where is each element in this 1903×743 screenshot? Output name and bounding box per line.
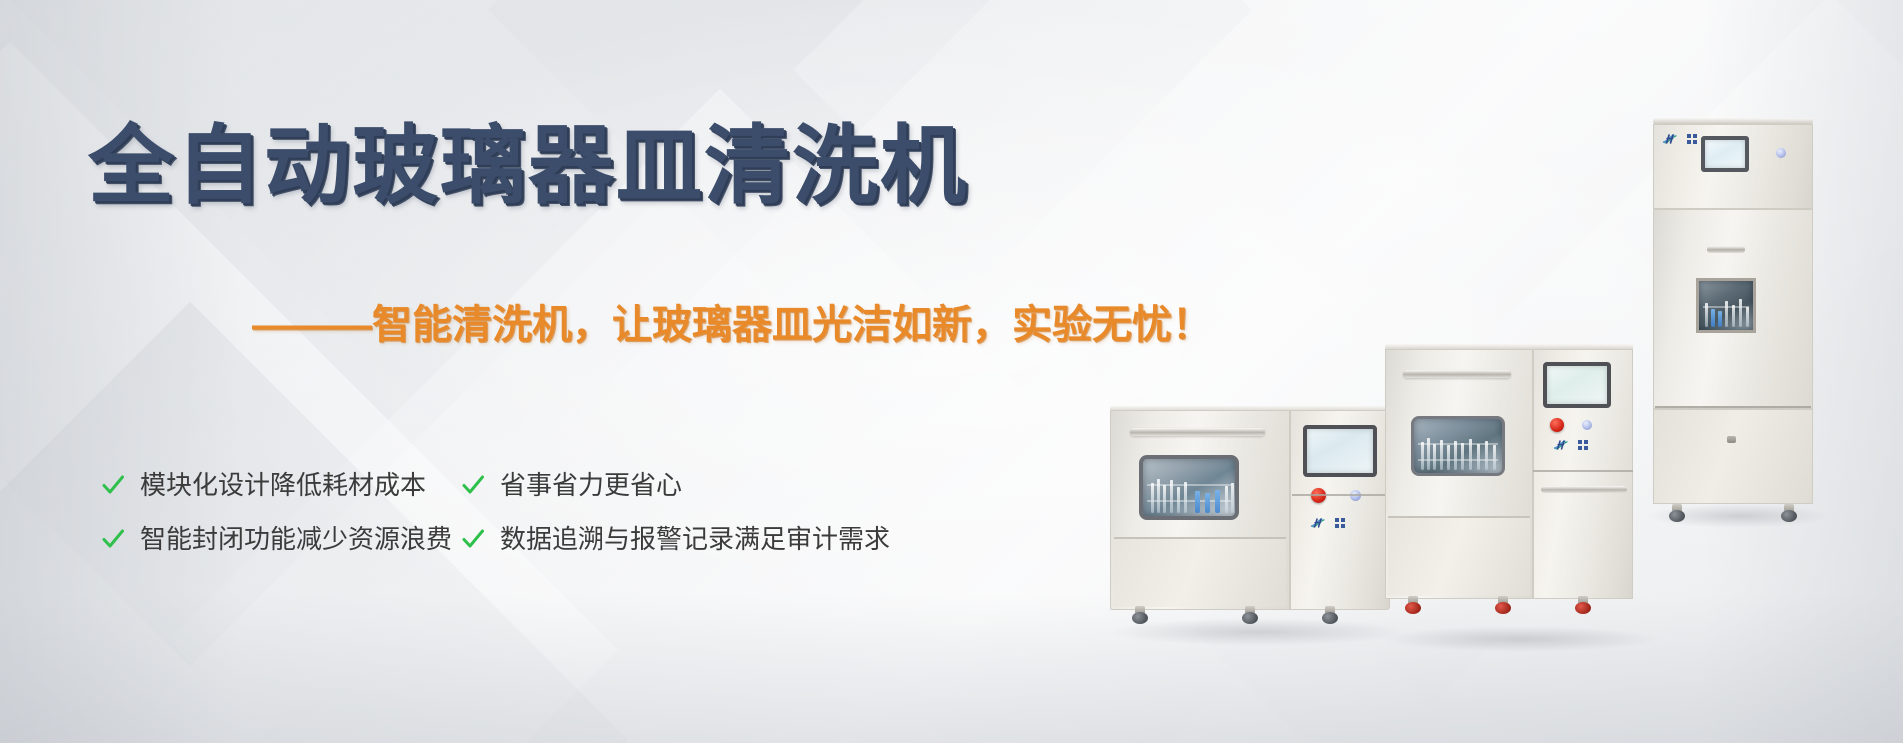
lower-door-handle	[1541, 486, 1627, 493]
caster-wheel	[1322, 606, 1338, 624]
brand-wordmark-blocks	[1335, 518, 1345, 528]
brand-mark-icon	[1553, 440, 1570, 451]
banner-text-content: 全自动玻璃器皿清洗机 ———智能清洗机，让玻璃器皿光洁如新，实验无忧！ 模块化设…	[0, 0, 1180, 743]
touchscreen-display	[1543, 362, 1611, 408]
page-subtitle: ———智能清洗机，让玻璃器皿光洁如新，实验无忧！	[252, 292, 1212, 350]
feature-item: 数据追溯与报警记录满足审计需求	[460, 526, 940, 552]
caster-wheel	[1669, 504, 1684, 521]
feature-list: 模块化设计降低耗材成本 省事省力更省心	[100, 472, 1000, 580]
door-handle	[1707, 246, 1745, 253]
lower-door-panel	[1388, 516, 1530, 596]
lower-door-panel	[1653, 409, 1813, 504]
feature-label: 模块化设计降低耗材成本	[140, 472, 426, 498]
door-latch	[1727, 436, 1736, 443]
check-icon	[460, 526, 486, 552]
brand-logo	[1310, 516, 1345, 530]
feature-label: 智能封闭功能减少资源浪费	[140, 526, 452, 552]
emergency-stop-button	[1550, 418, 1564, 432]
power-indicator-button	[1582, 420, 1592, 430]
feature-item: 智能封闭功能减少资源浪费	[100, 526, 460, 552]
viewing-window	[1696, 278, 1756, 333]
product-banner: 全自动玻璃器皿清洗机 ———智能清洗机，让玻璃器皿光洁如新，实验无忧！ 模块化设…	[0, 0, 1903, 743]
power-indicator-button	[1776, 148, 1786, 158]
check-icon	[460, 472, 486, 498]
brand-logo	[1662, 132, 1697, 146]
caster-wheel	[1242, 606, 1258, 624]
caster-wheel	[1781, 504, 1796, 521]
feature-row: 模块化设计降低耗材成本 省事省力更省心	[100, 472, 1000, 498]
caster-wheel	[1575, 596, 1591, 614]
product-image-tall-cabinet-glassware-washer	[1653, 118, 1813, 518]
check-icon	[100, 526, 126, 552]
check-icon	[100, 472, 126, 498]
feature-label: 数据追溯与报警记录满足审计需求	[500, 526, 890, 552]
feature-item: 省事省力更省心	[460, 472, 940, 498]
touchscreen-display	[1303, 425, 1377, 477]
product-image-freestanding-glassware-washer	[1385, 338, 1645, 638]
brand-mark-icon	[1310, 518, 1327, 529]
brand-wordmark-blocks	[1687, 134, 1697, 144]
feature-label: 省事省力更省心	[500, 472, 682, 498]
page-title: 全自动玻璃器皿清洗机	[88, 95, 968, 220]
feature-item: 模块化设计降低耗材成本	[100, 472, 460, 498]
brand-logo	[1553, 438, 1588, 452]
touchscreen-display	[1701, 136, 1749, 172]
viewing-window	[1411, 416, 1505, 476]
caster-wheel	[1405, 596, 1421, 614]
brand-wordmark-blocks	[1578, 440, 1588, 450]
caster-wheel	[1495, 596, 1511, 614]
feature-row: 智能封闭功能减少资源浪费 数据追溯与报警记录满足审计需求	[100, 526, 1000, 552]
door-handle	[1403, 370, 1511, 378]
brand-mark-icon	[1662, 134, 1679, 145]
